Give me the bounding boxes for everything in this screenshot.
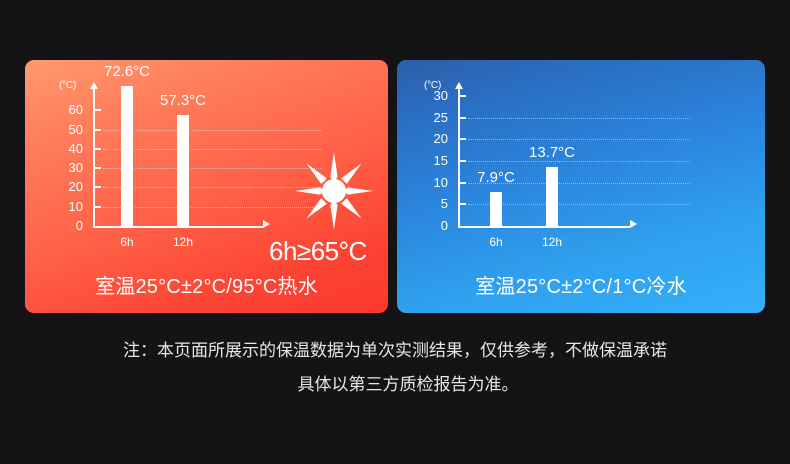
footnote-line-2: 具体以第三方质检报告为准。 <box>0 368 790 402</box>
y-tick-mark <box>95 167 101 169</box>
x-tick-label: 12h <box>153 235 213 249</box>
gridline <box>468 118 690 119</box>
y-tick-label: 25 <box>412 110 448 125</box>
bar-value-label: 13.7°C <box>512 144 592 161</box>
y-tick-label: 10 <box>412 175 448 190</box>
gridline <box>103 168 321 169</box>
y-tick-label: 30 <box>412 88 448 103</box>
bar-value-label: 57.3°C <box>143 92 223 109</box>
y-tick-mark <box>460 117 466 119</box>
x-tick-label: 12h <box>522 235 582 249</box>
bar <box>121 86 133 226</box>
y-tick-mark <box>95 206 101 208</box>
gridline <box>103 207 321 208</box>
y-tick-mark <box>95 186 101 188</box>
x-axis-line <box>93 226 263 228</box>
y-tick-label: 5 <box>412 196 448 211</box>
y-axis-unit-label: (°C) <box>59 80 76 91</box>
x-axis-line <box>458 226 630 228</box>
gridline <box>468 161 690 162</box>
y-tick-label: 50 <box>47 122 83 137</box>
cold-water-panel: (°C) 051015202530 6h12h 7.9°C13.7°C <box>397 60 765 313</box>
gridline <box>103 149 321 150</box>
y-axis-line <box>458 89 460 228</box>
y-tick-mark <box>95 109 101 111</box>
footnote: 注：本页面所展示的保温数据为单次实测结果，仅供参考，不做保温承诺 具体以第三方质… <box>0 334 790 402</box>
y-tick-label: 0 <box>412 218 448 233</box>
y-tick-mark <box>460 203 466 205</box>
bar <box>546 167 558 226</box>
gridline <box>103 187 321 188</box>
x-axis-arrow-icon <box>630 220 637 228</box>
y-tick-mark <box>95 148 101 150</box>
y-axis-arrow-icon <box>455 82 463 89</box>
y-tick-label: 20 <box>412 131 448 146</box>
y-tick-label: 15 <box>412 153 448 168</box>
y-tick-label: 0 <box>47 218 83 233</box>
y-tick-label: 60 <box>47 102 83 117</box>
y-tick-label: 20 <box>47 179 83 194</box>
gridline <box>468 139 690 140</box>
x-tick-label: 6h <box>466 235 526 249</box>
y-axis-arrow-icon <box>90 82 98 89</box>
bar <box>490 192 502 226</box>
y-tick-mark <box>460 95 466 97</box>
hot-claim-text: 6h≥65°C <box>269 236 367 267</box>
footnote-line-1: 注：本页面所展示的保温数据为单次实测结果，仅供参考，不做保温承诺 <box>0 334 790 368</box>
cold-water-chart: (°C) 051015202530 6h12h 7.9°C13.7°C <box>397 60 765 265</box>
bar <box>177 115 189 226</box>
y-tick-mark <box>95 129 101 131</box>
bar-value-label: 7.9°C <box>456 169 536 186</box>
y-tick-label: 10 <box>47 199 83 214</box>
sun-icon <box>295 152 373 230</box>
x-axis-arrow-icon <box>263 220 270 228</box>
y-tick-mark <box>460 160 466 162</box>
bar-value-label: 72.6°C <box>87 63 167 80</box>
gridline <box>103 130 321 131</box>
y-tick-label: 40 <box>47 141 83 156</box>
hot-water-panel: (°C) 0102030405060 6h12h 72.6°C57.3°C <box>25 60 388 313</box>
hot-panel-caption: 室温25°C±2°C/95°C热水 <box>25 270 388 299</box>
x-tick-label: 6h <box>97 235 157 249</box>
cold-panel-caption: 室温25°C±2°C/1°C冷水 <box>397 270 765 299</box>
y-tick-mark <box>460 138 466 140</box>
y-tick-label: 30 <box>47 160 83 175</box>
